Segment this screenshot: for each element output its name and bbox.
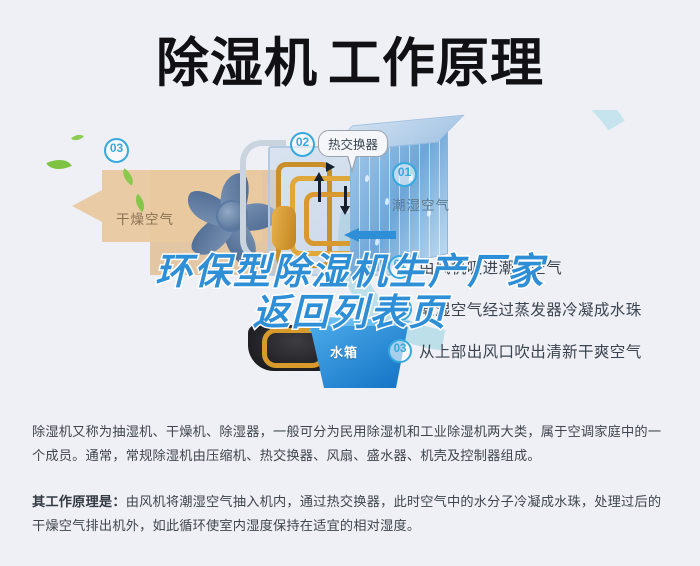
compressor-icon: [272, 206, 296, 250]
dry-air-label: 干燥空气: [116, 208, 174, 228]
description-paragraph-1: 除湿机又称为抽湿机、干燥机、除湿器，一般可分为民用除湿机和工业除湿机两大类，属于…: [32, 420, 672, 468]
step-text: 由风机吸进潮湿空气: [419, 256, 562, 278]
description-paragraph-2: 其工作原理是：由风机将潮湿空气抽入机内，通过热交换器，此时空气中的水分子冷凝成水…: [32, 490, 672, 538]
principle-label: 其工作原理是：: [32, 494, 126, 509]
list-item: 02 潮湿空气经过蒸发器冷凝成水珠: [388, 297, 642, 321]
water-tank-label: 水箱: [330, 342, 358, 361]
step-number: 01: [388, 255, 412, 279]
step-number: 03: [388, 339, 412, 363]
page-root: 除湿机工作原理: [0, 0, 700, 566]
title-part-2: 工作原理: [328, 33, 544, 94]
step-text: 从上部出风口吹出清新干爽空气: [419, 340, 642, 362]
title-part-1: 除湿机: [156, 33, 318, 94]
leaf-icon: [46, 154, 71, 175]
diagram-marker-03: 03: [104, 138, 129, 163]
page-title: 除湿机工作原理: [0, 24, 700, 102]
dehumidifier-diagram: 水箱 03 02 01 热交换器 干燥空气 潮湿空气 01 由风机吸进潮湿空气 …: [0, 110, 700, 395]
step-number: 02: [388, 297, 412, 321]
leaf-icon: [71, 131, 84, 143]
list-item: 01 由风机吸进潮湿空气: [388, 255, 642, 279]
step-list: 01 由风机吸进潮湿空气 02 潮湿空气经过蒸发器冷凝成水珠 03 从上部出风口…: [388, 255, 642, 381]
humid-air-label: 潮湿空气: [392, 194, 450, 214]
flow-arrow-right-icon: [326, 162, 335, 172]
heat-exchanger-callout: 热交换器: [318, 130, 388, 157]
principle-text: 由风机将潮湿空气抽入机内，通过热交换器，此时空气中的水分子冷凝成水珠，处理过后的…: [32, 494, 661, 533]
flow-arrow-stem: [344, 186, 347, 208]
step-text: 潮湿空气经过蒸发器冷凝成水珠: [419, 298, 642, 320]
list-item: 03 从上部出风口吹出清新干爽空气: [388, 339, 642, 363]
title-text: 除湿机工作原理: [156, 37, 544, 90]
diagram-marker-01: 01: [392, 162, 417, 187]
flow-arrow-stem: [318, 180, 321, 202]
diagram-marker-02: 02: [290, 132, 315, 157]
flow-arrow-up-icon: [314, 172, 324, 181]
flow-arrow-down-icon: [340, 206, 350, 215]
air-intake-arrow-icon: [344, 228, 396, 242]
